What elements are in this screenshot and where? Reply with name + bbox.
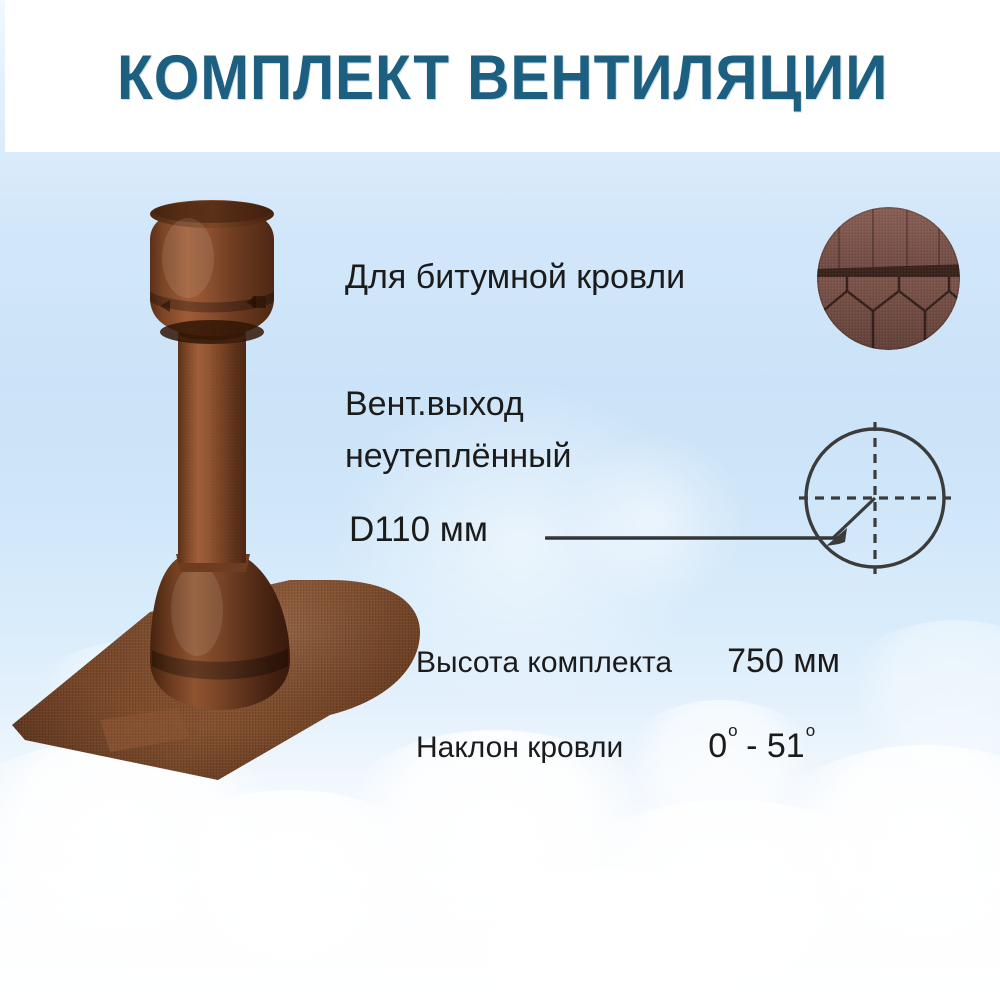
vent-pipe (178, 326, 246, 563)
degree-symbol-max: o (806, 721, 815, 740)
degree-symbol-min: o (728, 721, 737, 740)
spec-row-height: Высота комплекта 750 мм (416, 642, 840, 681)
spec-roof-type: Для битумной кровли (345, 258, 685, 297)
pipe-diameter-diagram (795, 418, 955, 578)
spec-vent-line-2: неутеплённый (345, 437, 572, 476)
spec-diameter: D110 мм (349, 510, 488, 550)
title-banner: КОМПЛЕКТ ВЕНТИЛЯЦИИ (5, 0, 1000, 152)
spec-vent-line-1: Вент.выход (345, 385, 524, 424)
vent-cap (150, 200, 274, 344)
spec-slope-label: Наклон кровли (416, 731, 623, 765)
spec-slope-separator: - (746, 727, 757, 765)
spec-height-value: 750 мм (727, 642, 840, 681)
spec-slope-min: 0 (708, 727, 727, 765)
page-title: КОМПЛЕКТ ВЕНТИЛЯЦИИ (117, 42, 888, 114)
spec-slope-max: 51 (767, 727, 805, 765)
spec-slope-value: 0o - 51o (708, 727, 814, 766)
spec-row-slope: Наклон кровли 0o - 51o (416, 727, 814, 766)
shingle-sample-photo (817, 207, 960, 350)
spec-height-label: Высота комплекта (416, 646, 672, 680)
outlet-base-dome (150, 554, 290, 710)
infographic-page: КОМПЛЕКТ ВЕНТИЛЯЦИИ (0, 0, 1000, 1000)
